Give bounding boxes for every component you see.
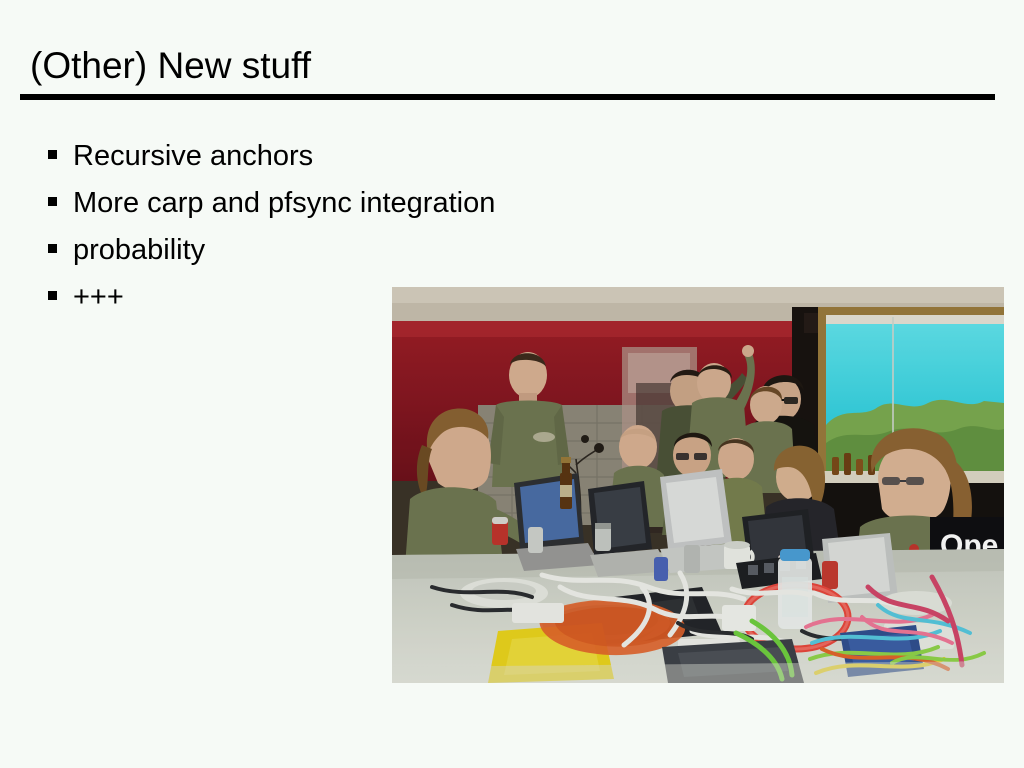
title-divider [20, 94, 995, 100]
list-item: More carp and pfsync integration [48, 186, 668, 233]
square-bullet-icon [48, 197, 57, 206]
list-item-label: Recursive anchors [73, 139, 313, 173]
slide: (Other) New stuff Recursive anchors More… [0, 0, 1024, 768]
list-item: probability [48, 233, 668, 280]
square-bullet-icon [48, 244, 57, 253]
hackathon-photo: Ope [392, 287, 1004, 683]
page-title: (Other) New stuff [30, 44, 311, 88]
list-item-label: More carp and pfsync integration [73, 186, 495, 220]
list-item-label: +++ [73, 280, 124, 314]
square-bullet-icon [48, 291, 57, 300]
list-item-label: probability [73, 233, 205, 267]
square-bullet-icon [48, 150, 57, 159]
list-item: Recursive anchors [48, 139, 668, 186]
